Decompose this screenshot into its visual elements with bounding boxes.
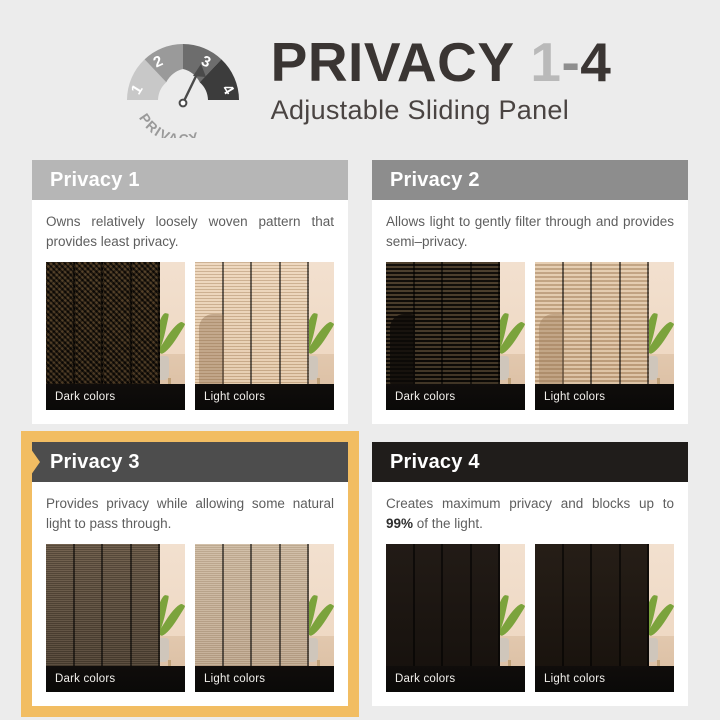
title-level-four: 4 <box>580 31 611 93</box>
card-description-1: Owns relatively loosely woven pattern th… <box>46 212 334 251</box>
card-title-3: Privacy 3 <box>50 451 140 474</box>
card-header-2: Privacy 2 <box>372 160 688 200</box>
page-header: 1 2 3 4 PRIVACY PRIVACY 1-4 Adjustable S… <box>0 0 720 160</box>
photo-pair-4: Dark colors <box>386 544 674 692</box>
card-header-1: Privacy 1 <box>32 160 348 200</box>
page-title: PRIVACY 1-4 <box>271 34 612 90</box>
card-body-2: Allows light to gently filter through an… <box>372 200 688 424</box>
photo-dark-4: Dark colors <box>386 544 525 692</box>
card-description-3: Provides privacy while allowing some nat… <box>46 494 334 533</box>
svg-text:PRIVACY: PRIVACY <box>136 110 202 138</box>
card-body-4: Creates maximum privacy and blocks up to… <box>372 482 688 706</box>
photo-light-1: Light colors <box>195 262 334 410</box>
photo-dark-3: Dark colors <box>46 544 185 692</box>
card-header-3: Privacy 3 <box>32 442 348 482</box>
photo-light-3: Light colors <box>195 544 334 692</box>
title-level-one: 1 <box>530 31 561 93</box>
title-word-privacy: PRIVACY <box>271 31 515 93</box>
card-title-2: Privacy 2 <box>390 169 480 192</box>
title-dash: - <box>561 31 580 93</box>
photo-label-dark-2: Dark colors <box>386 384 525 410</box>
card-body-3: Provides privacy while allowing some nat… <box>32 482 348 706</box>
photo-dark-1: Dark colors <box>46 262 185 410</box>
card-header-4: Privacy 4 <box>372 442 688 482</box>
photo-label-light-1: Light colors <box>195 384 334 410</box>
card-body-1: Owns relatively loosely woven pattern th… <box>32 200 348 424</box>
card-slot-privacy-2: Privacy 2 Allows light to gently filter … <box>372 160 688 424</box>
card-slot-privacy-4: Privacy 4 Creates maximum privacy and bl… <box>372 442 688 706</box>
photo-pair-3: Dark colors <box>46 544 334 692</box>
privacy-gauge: 1 2 3 4 PRIVACY <box>119 22 247 138</box>
photo-label-dark-3: Dark colors <box>46 666 185 692</box>
card-slot-privacy-3: Privacy 3 Provides privacy while allowin… <box>21 431 359 717</box>
privacy-card-3[interactable]: Privacy 3 Provides privacy while allowin… <box>32 442 348 706</box>
privacy-card-4[interactable]: Privacy 4 Creates maximum privacy and bl… <box>372 442 688 706</box>
privacy-card-2[interactable]: Privacy 2 Allows light to gently filter … <box>372 160 688 424</box>
card-title-1: Privacy 1 <box>50 169 140 192</box>
privacy-card-1[interactable]: Privacy 1 Owns relatively loosely woven … <box>32 160 348 424</box>
privacy-card-grid: Privacy 1 Owns relatively loosely woven … <box>0 160 720 706</box>
photo-light-4: Light colors <box>535 544 674 692</box>
photo-dark-2: Dark colors <box>386 262 525 410</box>
photo-label-dark-1: Dark colors <box>46 384 185 410</box>
page-subtitle: Adjustable Sliding Panel <box>271 96 612 126</box>
card-description-2: Allows light to gently filter through an… <box>386 212 674 251</box>
photo-pair-2: Dark colors <box>386 262 674 410</box>
photo-label-dark-4: Dark colors <box>386 666 525 692</box>
photo-label-light-2: Light colors <box>535 384 674 410</box>
card-description-4: Creates maximum privacy and blocks up to… <box>386 494 674 533</box>
selected-marker-icon <box>26 442 40 482</box>
photo-label-light-3: Light colors <box>195 666 334 692</box>
card-slot-privacy-1: Privacy 1 Owns relatively loosely woven … <box>32 160 348 424</box>
card-title-4: Privacy 4 <box>390 451 480 474</box>
title-block: PRIVACY 1-4 Adjustable Sliding Panel <box>271 34 612 126</box>
photo-label-light-4: Light colors <box>535 666 674 692</box>
photo-light-2: Light colors <box>535 262 674 410</box>
photo-pair-1: Dark colors <box>46 262 334 410</box>
